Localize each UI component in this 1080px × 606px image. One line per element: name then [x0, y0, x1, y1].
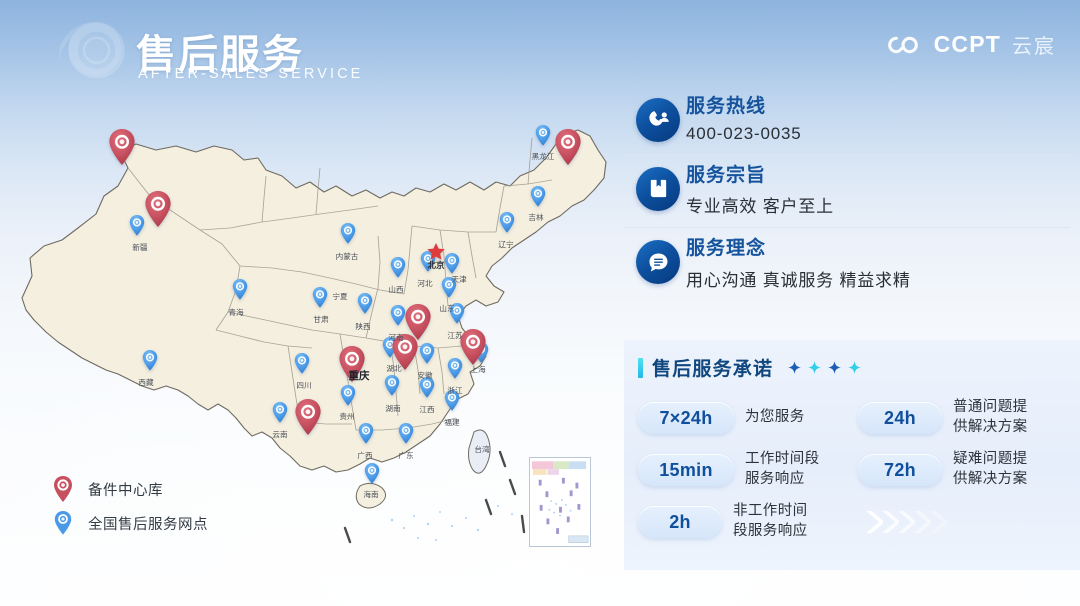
info-row-hotline: 服务热线 400-023-0035	[624, 86, 1070, 154]
book-bookmark-icon	[636, 167, 680, 211]
inset-map-svg	[530, 458, 590, 546]
poster-root: 售后服务 AFTER-SALES SERVICE CCPT 云宸	[0, 0, 1080, 606]
province-label: 天津	[451, 275, 467, 284]
province-label: 河北	[417, 279, 433, 288]
map-pin-blue-icon	[52, 509, 74, 537]
commitment-pill: 15min	[638, 454, 734, 486]
province-label: 陕西	[355, 321, 371, 331]
chevron-arrows	[858, 496, 1068, 548]
info-title-hotline: 服务热线	[686, 94, 1070, 120]
phone-support-icon	[636, 98, 680, 142]
capital-label: 北京	[427, 260, 445, 270]
province-label: 重庆	[349, 369, 370, 382]
commitment-text: 非工作时间段服务响应	[733, 502, 808, 541]
province-label: 贵州	[339, 411, 354, 421]
province-label: 广东	[398, 450, 414, 460]
commitment-item: 24h普通问题提供解决方案	[858, 392, 1068, 444]
map-legend: 备件中心库 全国售后服务网点	[52, 472, 208, 540]
ccpt-infinity-icon	[883, 34, 923, 56]
info-text-philosophy: 用心沟通 真诚服务 精益求精	[686, 266, 1070, 291]
service-commitment-panel: 售后服务承诺 7×24h为您服务24h普通问题提供解决方案15min工作时间段服…	[624, 340, 1080, 570]
corp-name: CCPT	[934, 31, 1001, 58]
commitment-pill: 24h	[858, 402, 942, 434]
commitment-text: 疑难问题提供解决方案	[953, 450, 1028, 489]
corporate-logo: CCPT 云宸	[883, 30, 1056, 59]
province-label: 甘肃	[313, 314, 329, 324]
province-label: 云南	[272, 429, 288, 439]
service-info-panel: 服务热线 400-023-0035 服务宗旨 专业高效 客户至上 服务理念 用心…	[624, 86, 1070, 301]
map-pin-red-icon	[52, 475, 74, 503]
province-label: 辽宁	[498, 239, 514, 249]
legend-label-depot: 备件中心库	[88, 479, 163, 500]
province-label: 福建	[444, 417, 460, 427]
sparkle-group	[788, 361, 861, 374]
commitment-item: 7×24h为您服务	[638, 392, 848, 444]
commitment-text: 工作时间段服务响应	[745, 450, 820, 489]
info-row-purpose: 服务宗旨 专业高效 客户至上	[624, 154, 1070, 228]
info-title-purpose: 服务宗旨	[686, 163, 1070, 189]
province-label: 山西	[388, 284, 404, 294]
commitment-header: 售后服务承诺	[624, 340, 1080, 381]
commitment-text: 普通问题提供解决方案	[953, 398, 1028, 437]
info-text-hotline: 400-023-0035	[686, 124, 1070, 144]
commitment-title: 售后服务承诺	[652, 354, 773, 381]
province-label: 江西	[419, 405, 435, 414]
page-subtitle: AFTER-SALES SERVICE	[138, 66, 363, 82]
province-label: 山东	[439, 303, 455, 313]
province-label: 宁夏	[332, 291, 348, 301]
commitment-item: 15min工作时间段服务响应	[638, 444, 848, 496]
map-pin-blue-icon	[536, 125, 550, 146]
speech-bubble-lines-icon	[636, 240, 680, 284]
commitment-pill: 2h	[638, 506, 722, 538]
province-label: 西藏	[138, 377, 154, 387]
province-label: 湖北	[386, 364, 402, 373]
province-label: 河南	[388, 332, 404, 342]
commitment-grid: 7×24h为您服务24h普通问题提供解决方案15min工作时间段服务响应72h疑…	[638, 392, 1068, 548]
sparkle-icon	[848, 361, 861, 374]
province-label: 江苏	[447, 330, 463, 340]
province-label: 安徽	[417, 370, 433, 380]
sparkle-icon	[828, 361, 841, 374]
info-title-philosophy: 服务理念	[686, 236, 1070, 262]
legend-label-service-point: 全国售后服务网点	[88, 513, 208, 534]
province-label: 吉林	[528, 212, 544, 222]
commitment-pill: 72h	[858, 454, 942, 486]
chevron-right-icon	[928, 509, 947, 535]
sparkle-icon	[788, 361, 801, 374]
south-china-sea-inset	[529, 457, 591, 547]
province-label: 海南	[363, 489, 379, 499]
commitment-item: 72h疑难问题提供解决方案	[858, 444, 1068, 496]
accent-bar	[638, 358, 643, 378]
commitment-text: 为您服务	[745, 408, 805, 428]
corp-name-cn: 云宸	[1012, 30, 1056, 59]
sparkle-icon	[808, 361, 821, 374]
province-label: 四川	[296, 381, 311, 390]
province-label: 内蒙古	[336, 251, 359, 261]
province-label: 浙江	[447, 385, 463, 395]
legend-item-service-point: 全国售后服务网点	[52, 506, 208, 540]
province-label: 台湾	[474, 444, 490, 454]
info-text-purpose: 专业高效 客户至上	[686, 192, 1070, 217]
province-label: 上海	[470, 364, 486, 374]
info-row-philosophy: 服务理念 用心沟通 真诚服务 精益求精	[624, 227, 1070, 301]
commitment-pill: 7×24h	[638, 402, 734, 434]
ring-swirl-icon	[56, 16, 134, 94]
map-pin-blue-icon	[365, 463, 379, 484]
commitment-item: 2h非工作时间段服务响应	[638, 496, 848, 548]
province-label: 湖南	[385, 403, 401, 413]
province-label: 黑龙江	[532, 151, 555, 161]
legend-item-depot: 备件中心库	[52, 472, 208, 506]
province-label: 广西	[357, 450, 373, 460]
province-label: 青海	[228, 307, 244, 317]
province-label: 新疆	[132, 242, 148, 252]
